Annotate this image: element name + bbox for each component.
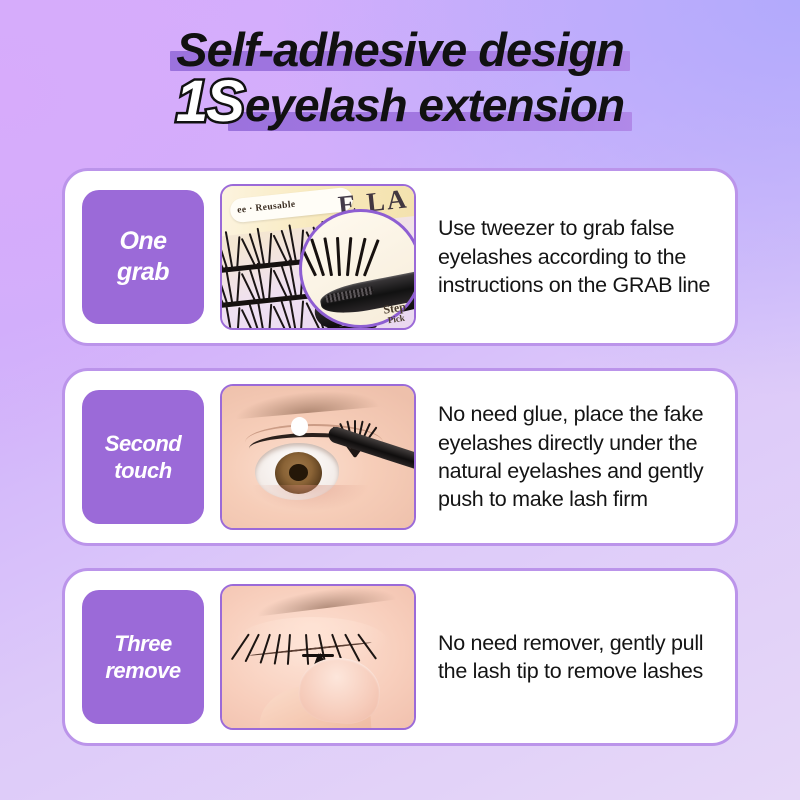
step-badge-one-line2: grab [117, 257, 169, 288]
open-eye-applying-lash-photo [220, 384, 416, 530]
step-badge-one-line1: One [119, 226, 166, 257]
step-badge-two-line1: Second [105, 430, 181, 458]
title-1s-badge-text: 1S [176, 69, 243, 134]
title-line-2-text: eyelash extension [245, 79, 624, 131]
step-card-three: Three remove No need remover, gently [62, 568, 738, 746]
step-description-one: Use tweezer to grab false eyelashes acco… [438, 214, 721, 299]
step-card-two: Second touch No need glue, place the fak… [62, 368, 738, 546]
step-description-two: No need glue, place the fake eyelashes d… [438, 400, 721, 514]
title-line-1-text: Self-adhesive design [176, 23, 624, 76]
step-description-three: No need remover, gently pull the lash ti… [438, 629, 721, 686]
page-title: Self-adhesive design 1Seyelash extension [0, 26, 800, 131]
step-badge-one: One grab [82, 190, 204, 324]
step-badge-three: Three remove [82, 590, 204, 724]
title-line-2: 1Seyelash extension [176, 73, 624, 131]
title-line-1: Self-adhesive design [176, 26, 624, 73]
package-step-label: Step Pick [382, 300, 408, 325]
closed-eye-removing-lash-photo [220, 584, 416, 730]
step-badge-two-line2: touch [114, 457, 171, 485]
step-card-one: One grab ee · Reusable E LA [62, 168, 738, 346]
lash-tray-with-tweezer-photo: ee · Reusable E LA [220, 184, 416, 330]
step-badge-three-line1: Three [114, 630, 171, 658]
step-badge-three-line2: remove [105, 657, 180, 685]
step-badge-two: Second touch [82, 390, 204, 524]
